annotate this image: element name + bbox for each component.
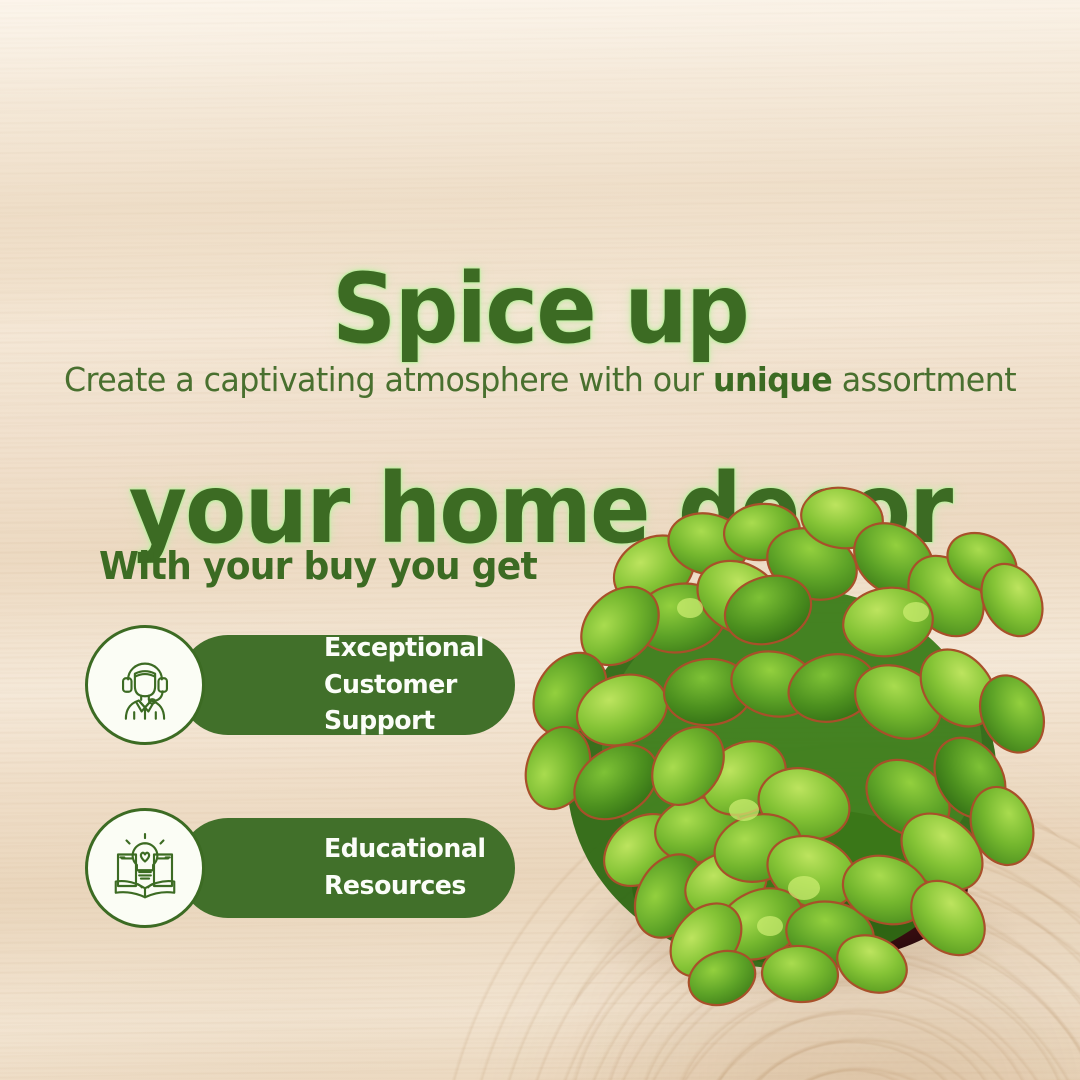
headset-support-agent-icon: [109, 649, 181, 721]
subtitle: Create a captivating atmosphere with our…: [22, 360, 1059, 399]
benefit-icon-circle: [85, 808, 205, 928]
promo-canvas: Spice up your home decor Create a captiv…: [0, 0, 1080, 1080]
benefit-pill[interactable]: Educational Resources: [178, 818, 515, 918]
benefit-label: Exceptional Customer Support: [324, 630, 509, 741]
subtitle-emphasis: unique: [713, 360, 832, 399]
benefit-pill[interactable]: Exceptional Customer Support: [178, 635, 515, 735]
benefit-label: Educational Resources: [324, 831, 486, 905]
jade-plant-illustration: [512, 478, 1060, 1008]
subtitle-text-after: assortment: [832, 360, 1016, 399]
benefit-item-customer-support[interactable]: Exceptional Customer Support: [85, 635, 515, 735]
benefit-item-educational-resources[interactable]: Educational Resources: [85, 818, 515, 918]
subtitle-text-before: Create a captivating atmosphere with our: [64, 360, 713, 399]
jade-plant-image: [512, 478, 1060, 1008]
benefit-icon-circle: [85, 625, 205, 745]
benefits-heading: With your buy you get: [99, 544, 537, 588]
headline-line-1: Spice up: [38, 260, 1042, 360]
lightbulb-open-book-icon: [109, 832, 181, 904]
